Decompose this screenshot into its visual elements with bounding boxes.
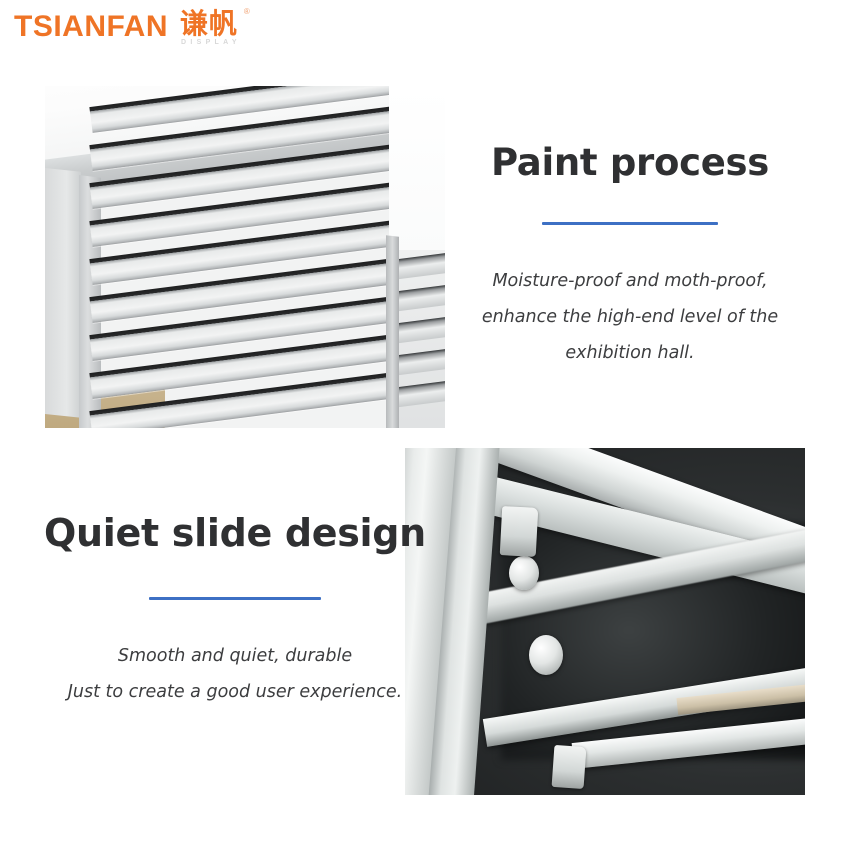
- louver-slat: [397, 284, 445, 312]
- slide-bracket: [500, 506, 538, 556]
- body-line: Just to create a good user experience.: [35, 674, 435, 710]
- panel-right-post: [386, 236, 399, 428]
- louvered-panel-photo: [45, 86, 445, 428]
- louver-slat: [397, 252, 445, 280]
- body-line: exhibition hall.: [475, 335, 785, 371]
- roller-wheel: [529, 635, 563, 675]
- louver-slat: [397, 316, 445, 344]
- paint-process-section: Paint process Moisture-proof and moth-pr…: [470, 140, 790, 371]
- brand-logo: TSIANFAN 谦帆 ® DISPLAY: [14, 8, 241, 47]
- logo-subtitle: DISPLAY: [181, 38, 241, 47]
- paint-process-heading: Paint process: [470, 140, 790, 186]
- paint-process-divider: [542, 222, 718, 225]
- louver-slat-group: [91, 93, 427, 428]
- body-line: Moisture-proof and moth-proof,: [475, 263, 785, 299]
- quiet-slide-design-heading: Quiet slide design: [35, 510, 435, 557]
- slide-mechanism-photo: [405, 448, 805, 795]
- quiet-slide-design-section: Quiet slide design Smooth and quiet, dur…: [35, 510, 435, 710]
- paint-process-body: Moisture-proof and moth-proof, enhance t…: [475, 263, 785, 371]
- body-line: Smooth and quiet, durable: [35, 638, 435, 674]
- registered-trademark-icon: ®: [244, 8, 250, 16]
- quiet-slide-design-body: Smooth and quiet, durable Just to create…: [35, 638, 435, 710]
- slide-bracket: [552, 745, 587, 789]
- logo-wordmark: TSIANFAN: [14, 8, 168, 46]
- logo-chinese-wrap: 谦帆 ® DISPLAY: [177, 8, 241, 47]
- louver-slat: [397, 380, 445, 408]
- secondary-louver-column: [397, 250, 445, 428]
- roller-wheel: [509, 556, 539, 591]
- logo-chinese-characters: 谦帆: [180, 8, 238, 39]
- quiet-slide-design-divider: [149, 597, 321, 600]
- panel-left-side: [45, 168, 81, 418]
- panel-upper-right-highlight: [389, 86, 445, 257]
- body-line: enhance the high-end level of the: [475, 299, 785, 335]
- louver-slat: [397, 348, 445, 376]
